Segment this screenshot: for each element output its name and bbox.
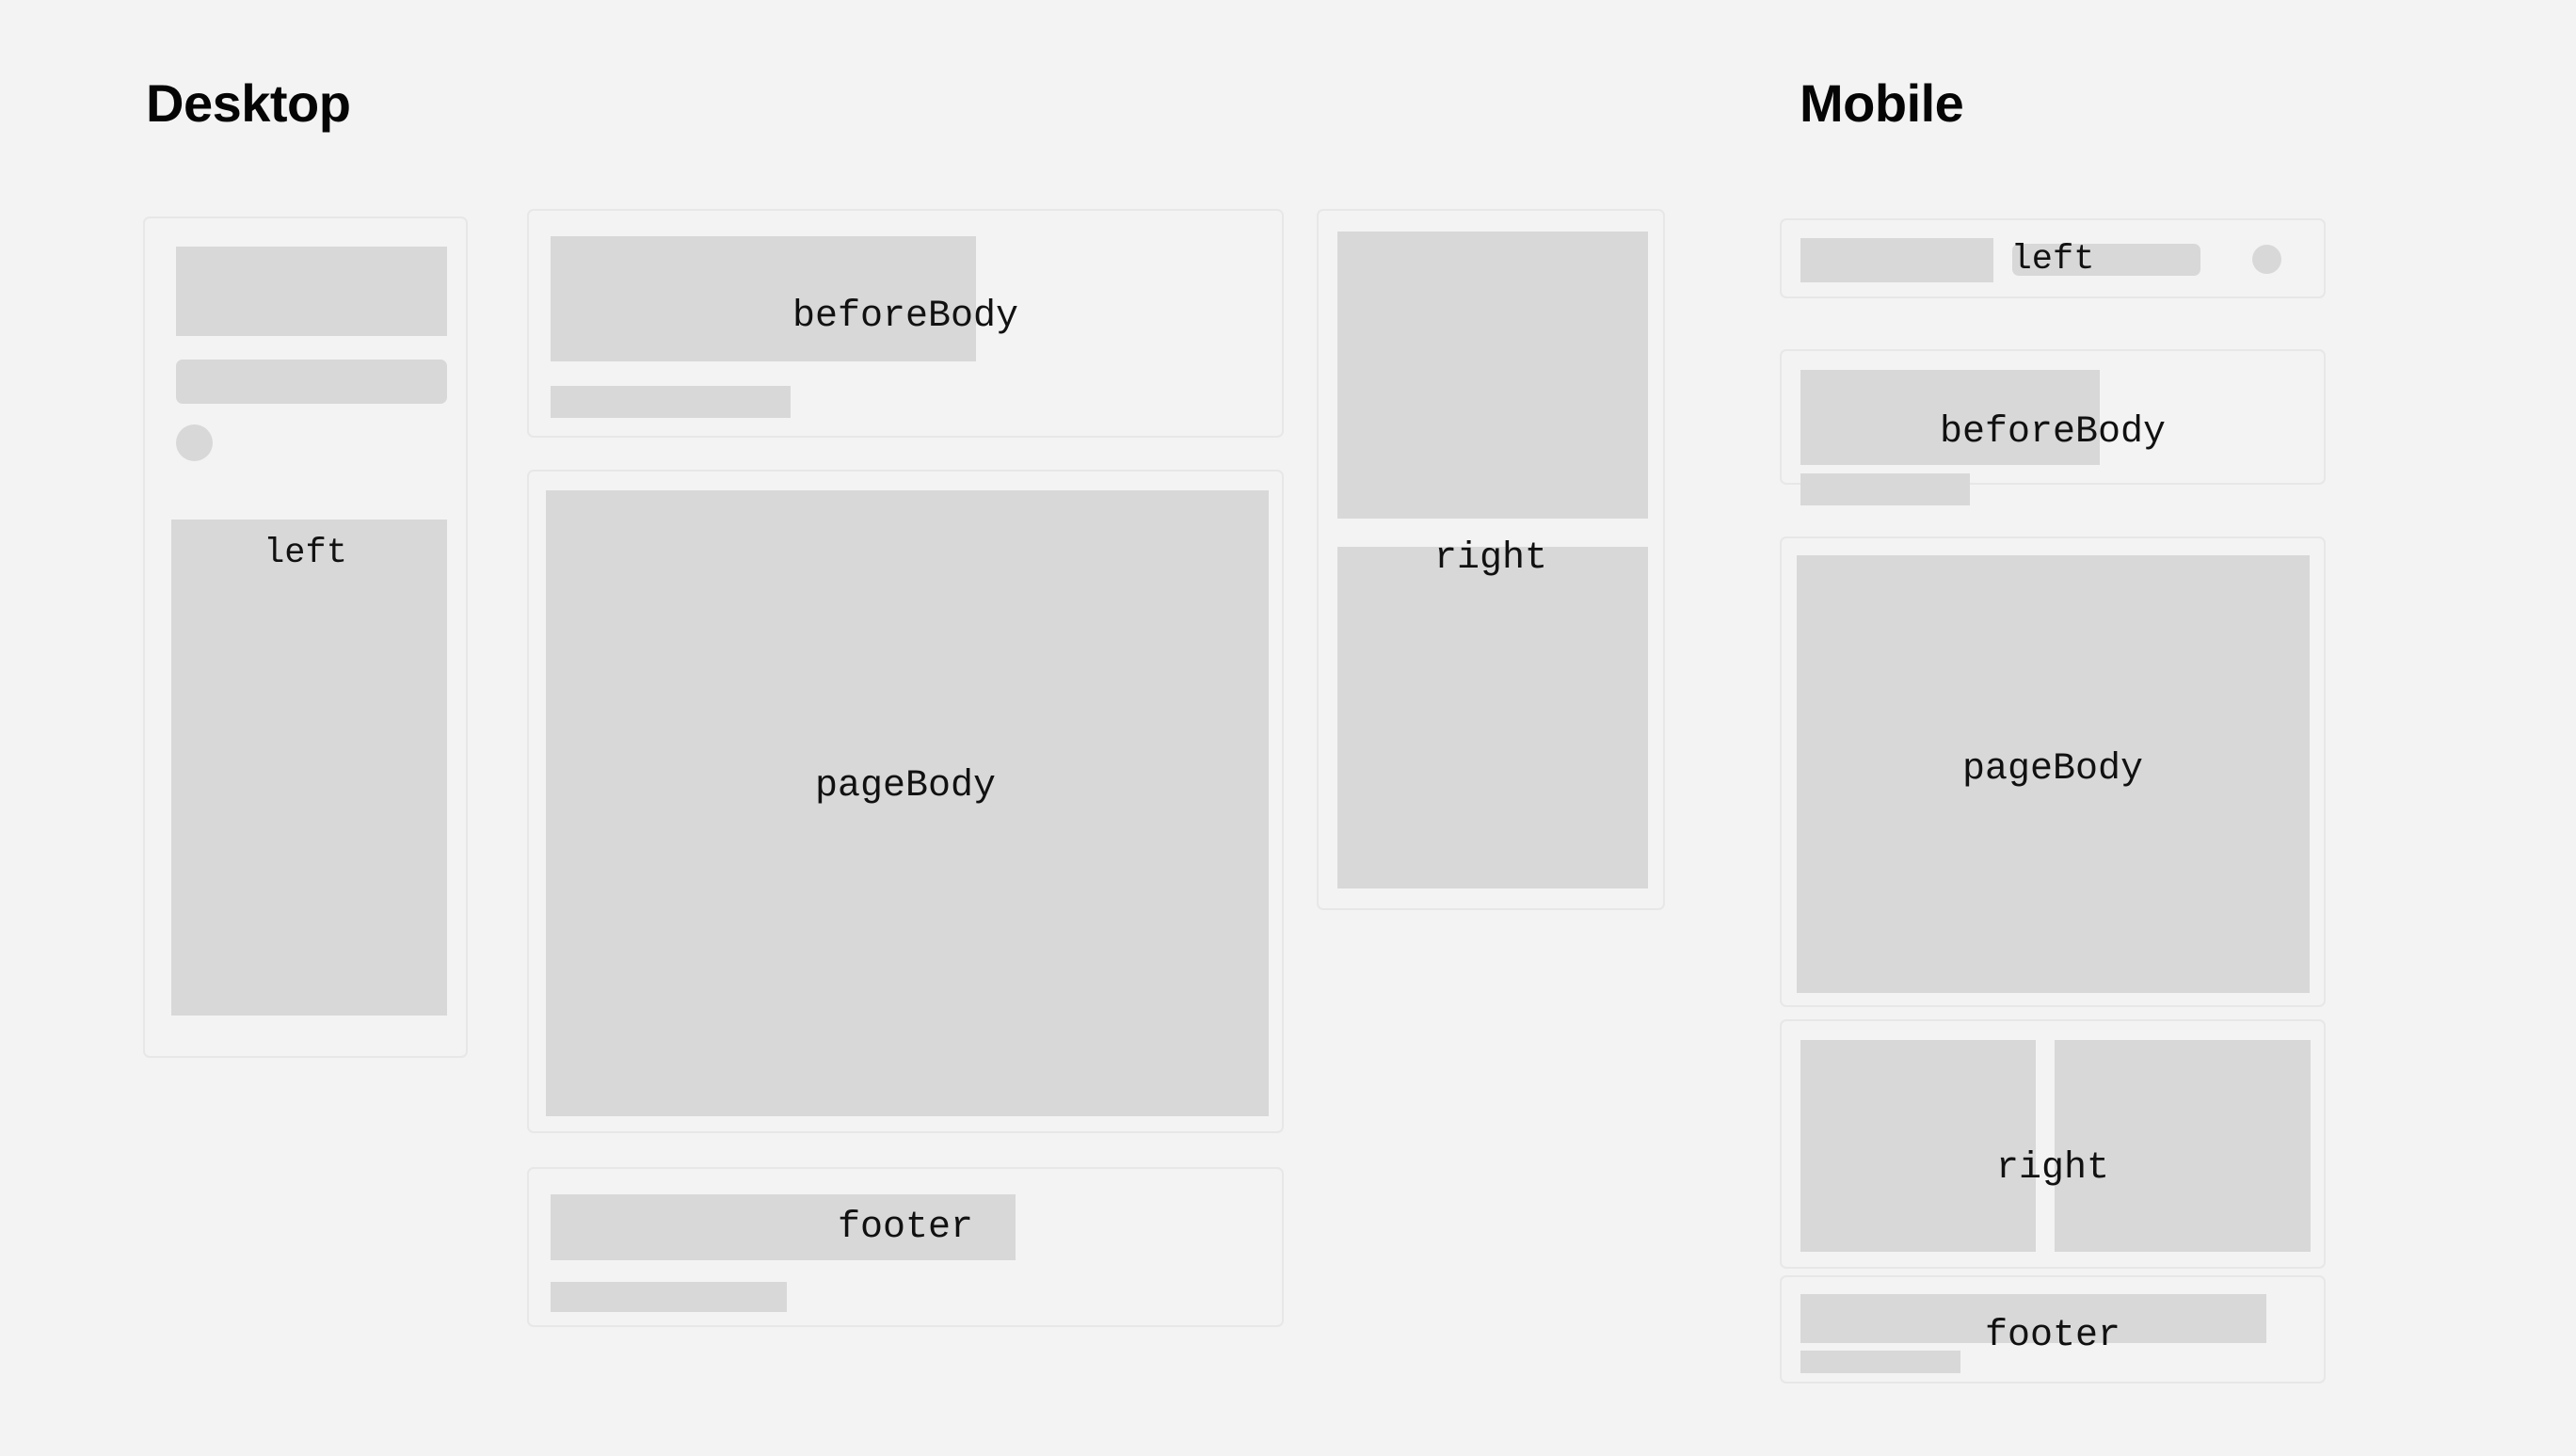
mobile-pagebody-block-main-content xyxy=(1797,555,2310,993)
desktop-left-block-wide-tall xyxy=(176,247,447,336)
wireframe-canvas: Desktop left beforeBody pageBody right f… xyxy=(0,0,2576,1456)
desktop-left-block-content-area xyxy=(171,520,447,1016)
mobile-left-block-avatar xyxy=(2252,245,2281,274)
mobile-right-block-right-card xyxy=(2055,1040,2311,1252)
desktop-footer-block-footer-small xyxy=(551,1282,787,1312)
desktop-beforebody-block-caption xyxy=(551,386,791,418)
mobile-left-block-bar xyxy=(2012,244,2200,276)
mobile-footer-block-footer-wide xyxy=(1800,1294,2266,1343)
mobile-beforebody-block-caption xyxy=(1800,473,1970,505)
desktop-footer-region-panel[interactable] xyxy=(527,1167,1284,1327)
desktop-pagebody-region-panel[interactable] xyxy=(527,470,1284,1133)
mobile-section-title: Mobile xyxy=(1800,77,1963,130)
mobile-beforebody-region-panel[interactable] xyxy=(1780,349,2326,485)
desktop-beforebody-region-panel[interactable] xyxy=(527,209,1284,438)
desktop-section-title: Desktop xyxy=(146,77,350,130)
mobile-left-region-panel[interactable] xyxy=(1780,218,2326,298)
desktop-left-block-bar xyxy=(176,360,447,404)
desktop-right-block-lower-card xyxy=(1337,547,1648,888)
desktop-beforebody-block-hero xyxy=(551,236,976,361)
desktop-right-block-upper-card xyxy=(1337,232,1648,519)
mobile-left-block-logo xyxy=(1800,238,1993,282)
mobile-footer-block-footer-small xyxy=(1800,1351,1960,1373)
mobile-right-region-panel[interactable] xyxy=(1780,1019,2326,1269)
mobile-beforebody-block-hero xyxy=(1800,370,2100,465)
mobile-pagebody-region-panel[interactable] xyxy=(1780,536,2326,1007)
desktop-pagebody-block-main-content xyxy=(546,490,1269,1116)
desktop-right-region-panel[interactable] xyxy=(1317,209,1665,910)
mobile-right-block-left-card xyxy=(1800,1040,2036,1252)
desktop-footer-block-footer-wide xyxy=(551,1194,1016,1260)
desktop-left-block-avatar xyxy=(176,424,213,461)
desktop-left-region-panel[interactable] xyxy=(143,216,468,1058)
mobile-footer-region-panel[interactable] xyxy=(1780,1275,2326,1384)
